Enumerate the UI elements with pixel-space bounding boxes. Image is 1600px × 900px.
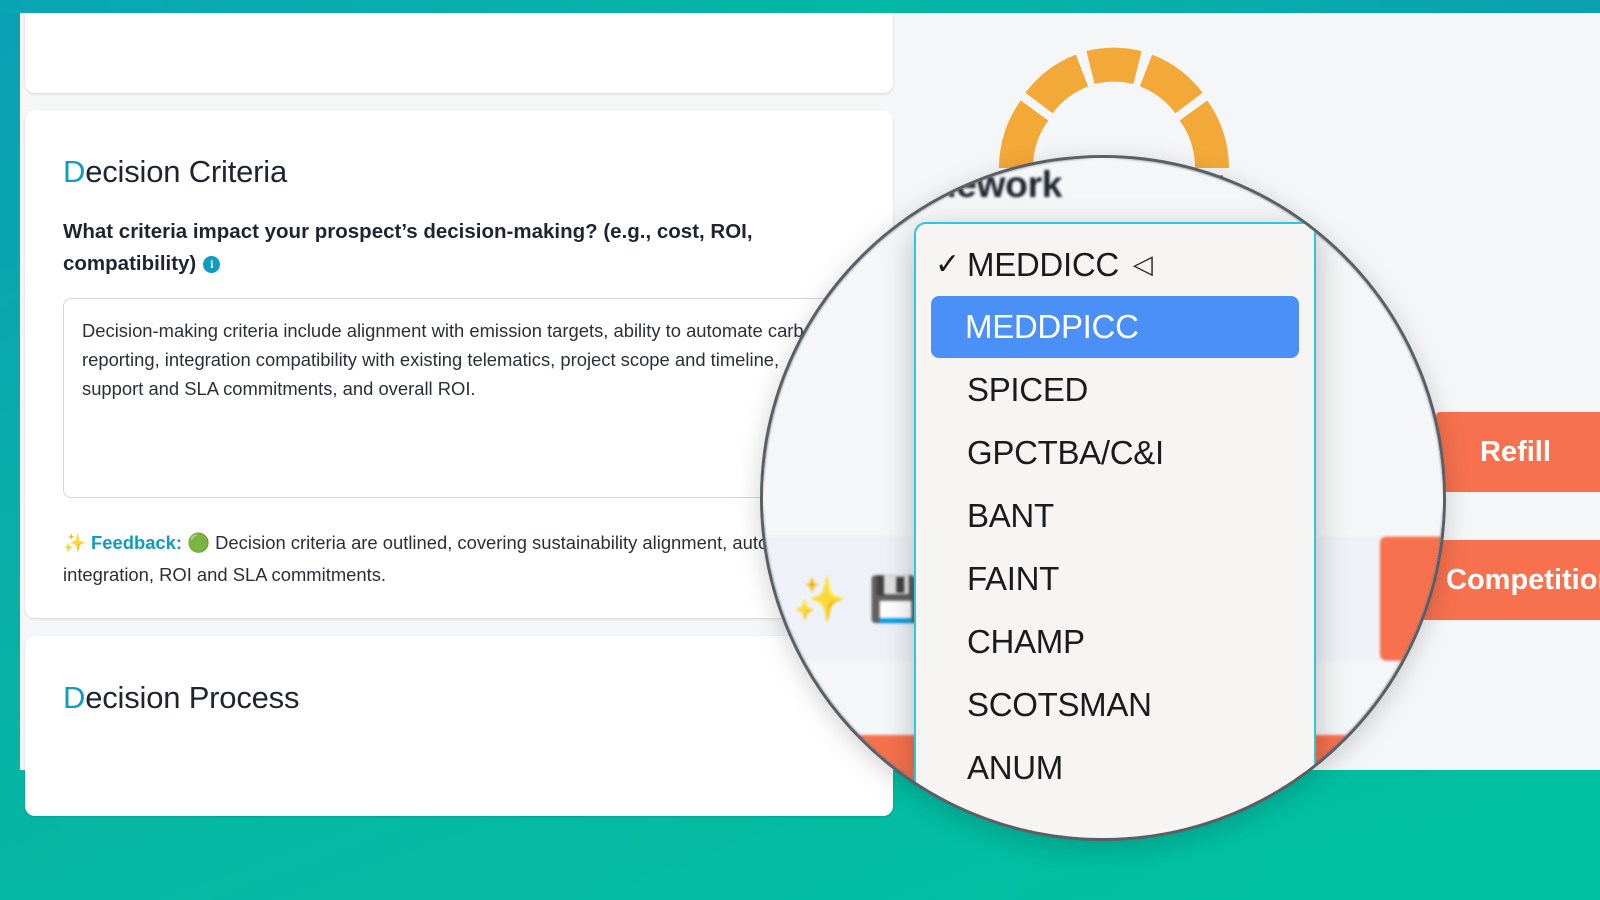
dropdown-item-label: SPICED bbox=[967, 371, 1088, 409]
framework-progress-gauge bbox=[994, 40, 1234, 170]
competition-label: Competition bbox=[1446, 564, 1600, 597]
framework-select-dropdown[interactable]: ✓ MEDDICC ◁ MEDDPICC SPICED GPCTBA/C&I B… bbox=[915, 223, 1315, 841]
dropdown-item-label: CHAMP bbox=[967, 623, 1085, 661]
top-accent-bar bbox=[0, 0, 1600, 13]
gauge-donut-icon bbox=[994, 40, 1234, 170]
info-icon[interactable]: i bbox=[203, 256, 220, 273]
dropdown-item-label: MEDDPICC bbox=[965, 308, 1139, 346]
dropdown-item-label: GPCTBA/C&I bbox=[967, 434, 1164, 472]
competition-button[interactable]: Competition bbox=[1436, 540, 1600, 620]
title-initial: D bbox=[63, 680, 85, 715]
dropdown-item-scotsman[interactable]: SCOTSMAN bbox=[915, 673, 1315, 736]
competition-button-magnified[interactable]: Competition bbox=[1380, 735, 1446, 841]
check-icon: ✓ bbox=[935, 247, 967, 282]
dropdown-item-champ[interactable]: CHAMP bbox=[915, 610, 1315, 673]
submenu-arrow-icon: ◁ bbox=[1133, 249, 1153, 280]
dropdown-item-label: FAINT bbox=[967, 560, 1059, 598]
dropdown-item-label: MEDDICC bbox=[967, 246, 1119, 284]
dropdown-item-bant[interactable]: BANT bbox=[915, 484, 1315, 547]
dropdown-item-label: BANT bbox=[967, 497, 1054, 535]
decision-criteria-textarea[interactable] bbox=[63, 298, 856, 498]
dropdown-item-label: SCOTSMAN bbox=[967, 686, 1152, 724]
refill-button-magnified[interactable]: Refill bbox=[1380, 537, 1446, 661]
dropdown-item-meddpicc[interactable]: MEDDPICC bbox=[931, 296, 1299, 358]
competition-label: Competition bbox=[1396, 771, 1447, 822]
title-rest: ecision Criteria bbox=[85, 154, 287, 189]
title-rest: ecision Process bbox=[85, 680, 299, 715]
dropdown-item-label: ANUM bbox=[967, 749, 1063, 787]
refill-label: Refill bbox=[1480, 436, 1551, 469]
dropdown-item-spiced[interactable]: SPICED bbox=[915, 358, 1315, 421]
dropdown-item-gpctba[interactable]: GPCTBA/C&I bbox=[915, 421, 1315, 484]
title-initial: D bbox=[63, 154, 85, 189]
decision-criteria-question: What criteria impact your prospect’s dec… bbox=[63, 216, 853, 280]
card-economic-buyer: ✨ Feedback: 🟢 Economic buyer identified … bbox=[25, 0, 893, 93]
feedback-label: Feedback: bbox=[91, 532, 182, 553]
dropdown-item-anum[interactable]: ANUM bbox=[915, 736, 1315, 799]
status-dot-icon: 🟢 bbox=[187, 532, 210, 553]
selected-framework-label-magnified: Selected Framework bbox=[760, 165, 1225, 208]
zoom-lens-content: Selected Framework ✨ 💾 Autofill Refill 🏢… bbox=[763, 158, 1446, 841]
question-text: What criteria impact your prospect’s dec… bbox=[63, 220, 753, 275]
decision-criteria-title: Decision Criteria bbox=[63, 110, 855, 190]
dropdown-item-faint[interactable]: FAINT bbox=[915, 547, 1315, 610]
decision-criteria-feedback: ✨ Feedback: 🟢 Decision criteria are outl… bbox=[63, 527, 855, 591]
zoom-lens: Selected Framework ✨ 💾 Autofill Refill 🏢… bbox=[760, 155, 1446, 841]
decision-process-title: Decision Process bbox=[63, 636, 855, 716]
refill-button[interactable]: Refill bbox=[1436, 412, 1600, 492]
dropdown-item-meddicc[interactable]: ✓ MEDDICC ◁ bbox=[915, 233, 1315, 296]
sparkles-icon: ✨ bbox=[793, 573, 847, 624]
sparkle-icon: ✨ bbox=[63, 532, 86, 553]
